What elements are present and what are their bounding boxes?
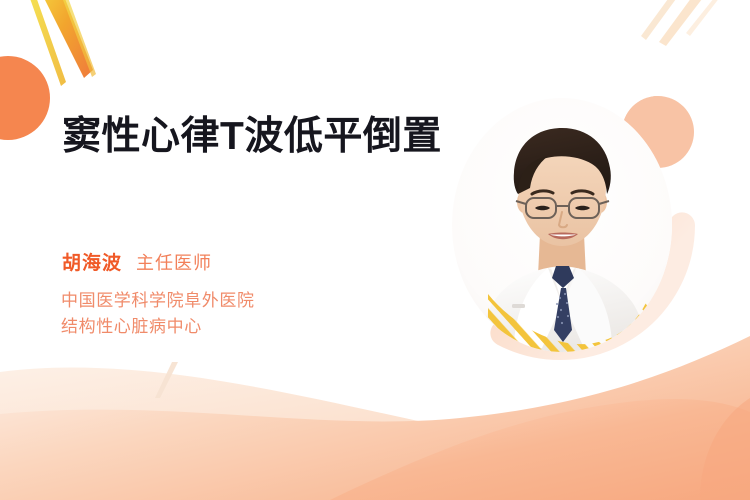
presenter-affiliation: 中国医学科学院阜外医院 结构性心脏病中心 xyxy=(61,288,255,339)
presenter-portrait xyxy=(452,98,672,352)
title-block: 窦性心律T波低平倒置 xyxy=(62,112,442,161)
page-title: 窦性心律T波低平倒置 xyxy=(62,112,442,161)
affiliation-line-1: 中国医学科学院阜外医院 xyxy=(61,288,255,314)
presenter-identity: 胡海波 主任医师 xyxy=(62,248,212,275)
presentation-slide: 窦性心律T波低平倒置 胡海波 主任医师 中国医学科学院阜外医院 结构性心脏病中心 xyxy=(0,0,750,500)
portrait-illustration xyxy=(452,98,672,352)
affiliation-line-2: 结构性心脏病中心 xyxy=(61,314,255,340)
portrait-circle-mask xyxy=(452,98,672,352)
bottom-waves-decor xyxy=(0,336,750,500)
presenter-role: 主任医师 xyxy=(136,249,212,275)
left-orange-circle-decor xyxy=(0,56,50,140)
top-right-strokes-decor xyxy=(641,0,727,46)
presenter-name: 胡海波 xyxy=(62,248,122,275)
